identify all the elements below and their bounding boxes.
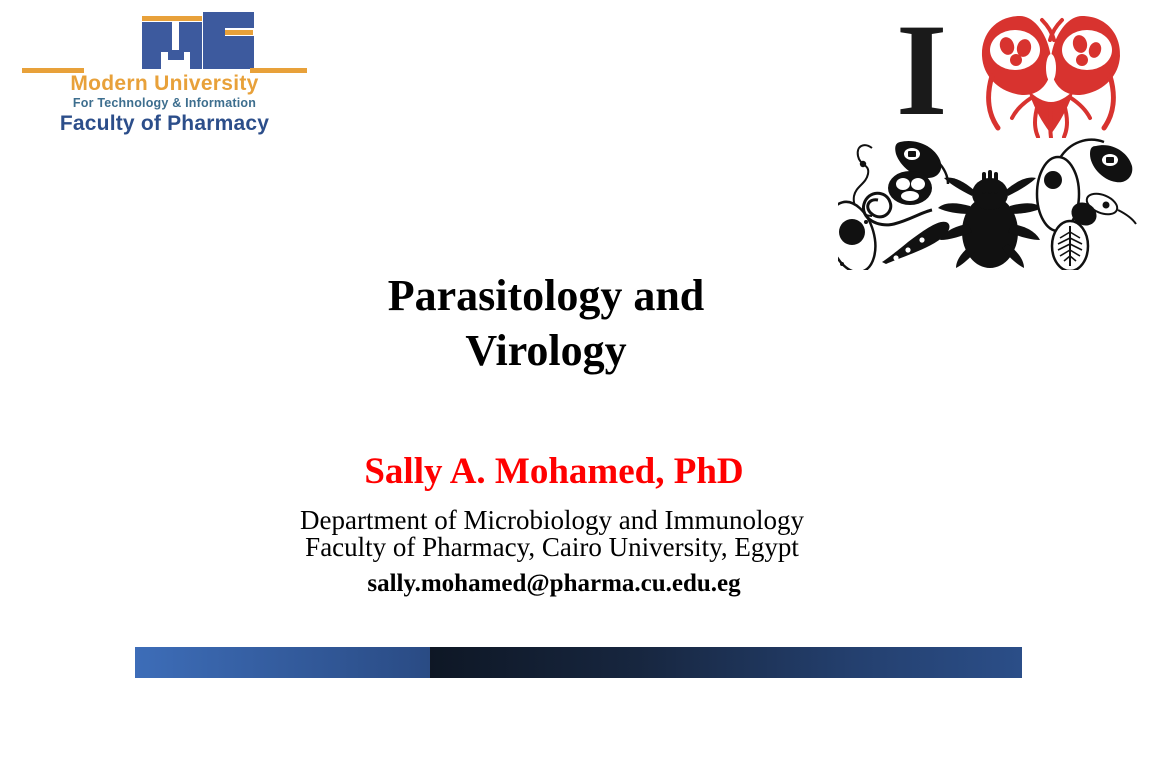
logo-letter-m-stroke-2 bbox=[161, 22, 172, 52]
logo-letter-m-stroke-3 bbox=[179, 22, 190, 52]
parasite-heart-icon bbox=[976, 10, 1126, 138]
giardia-cyst-icon bbox=[888, 171, 932, 205]
author-department: Department of Microbiology and Immunolog… bbox=[0, 506, 1104, 535]
accent-bar-segment-left bbox=[135, 647, 430, 678]
accent-bar-segment-right bbox=[430, 647, 1022, 678]
logo-letter-i-dot bbox=[232, 12, 247, 22]
logo-university-name: Modern University bbox=[22, 72, 307, 96]
microfilaria-icon bbox=[882, 222, 949, 264]
logo-letter-m-stroke-1 bbox=[142, 22, 161, 69]
slide-title-line-2: Virology bbox=[0, 323, 1092, 378]
mti-monogram-mark bbox=[82, 12, 247, 74]
author-institution: Faculty of Pharmacy, Cairo University, E… bbox=[0, 533, 1104, 562]
parasite-illustrations-group bbox=[838, 132, 1138, 270]
tick-icon bbox=[938, 172, 1042, 268]
logo-letter-t-block bbox=[218, 36, 254, 69]
mti-university-logo: Modern University For Technology & Infor… bbox=[22, 12, 307, 134]
bottom-accent-bar bbox=[135, 647, 1022, 678]
logo-accent-rule-top-left bbox=[142, 16, 202, 21]
author-name: Sally A. Mohamed, PhD bbox=[0, 452, 1108, 493]
logo-letter-m-joint bbox=[168, 50, 184, 60]
author-email: sally.mohamed@pharma.cu.edu.eg bbox=[0, 570, 1108, 598]
presentation-title-slide: Modern University For Technology & Infor… bbox=[0, 0, 1150, 773]
amoeba-trophozoite-icon bbox=[838, 196, 883, 270]
slide-title-line-1: Parasitology and bbox=[0, 268, 1092, 323]
logo-faculty-name: Faculty of Pharmacy bbox=[22, 112, 307, 136]
helminth-egg-icon bbox=[1052, 221, 1088, 270]
letter-i-glyph: I bbox=[896, 4, 947, 136]
leishmania-amastigote-icon bbox=[1090, 145, 1132, 182]
i-love-parasites-artwork: I bbox=[838, 2, 1138, 270]
logo-letter-m-stroke-4 bbox=[190, 22, 202, 69]
logo-university-tagline: For Technology & Information bbox=[22, 96, 307, 110]
slide-title: Parasitology and Virology bbox=[0, 268, 1092, 379]
